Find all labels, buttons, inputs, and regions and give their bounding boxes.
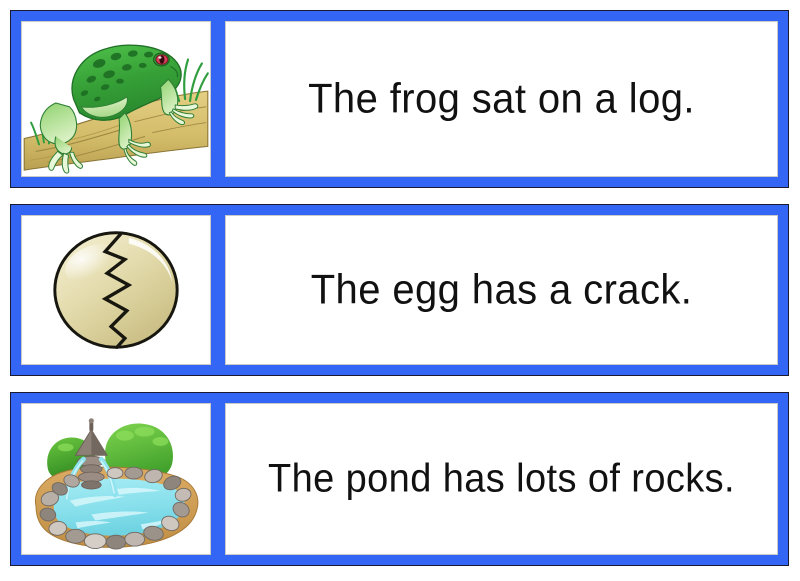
card-divider-egg <box>211 215 225 365</box>
text-cell-egg: The egg has a crack. <box>225 215 778 365</box>
frog-eye <box>154 53 170 66</box>
cracked-egg-illustration <box>22 216 210 364</box>
sentence-text-egg: The egg has a crack. <box>311 267 693 314</box>
card-divider-frog <box>211 21 225 177</box>
worksheet-page: The frog sat on a log. <box>0 0 800 581</box>
sentence-text-pond: The pond has lots of rocks. <box>268 457 735 502</box>
frog-back-leg <box>40 103 76 144</box>
text-cell-pond: The pond has lots of rocks. <box>225 403 778 555</box>
frog-on-log-illustration <box>22 22 210 176</box>
sentence-card-frog[interactable]: The frog sat on a log. <box>10 10 789 188</box>
sentence-card-egg[interactable]: The egg has a crack. <box>10 204 789 376</box>
picture-cell-frog <box>21 21 211 177</box>
card-divider-pond <box>211 403 225 555</box>
sentence-card-pond[interactable]: The pond has lots of rocks. <box>10 392 789 566</box>
picture-cell-pond <box>21 403 211 555</box>
pond-with-rocks-illustration <box>22 404 210 554</box>
picture-cell-egg <box>21 215 211 365</box>
stone-fountain <box>76 418 108 489</box>
sentence-text-frog: The frog sat on a log. <box>308 76 695 123</box>
text-cell-frog: The frog sat on a log. <box>225 21 778 177</box>
